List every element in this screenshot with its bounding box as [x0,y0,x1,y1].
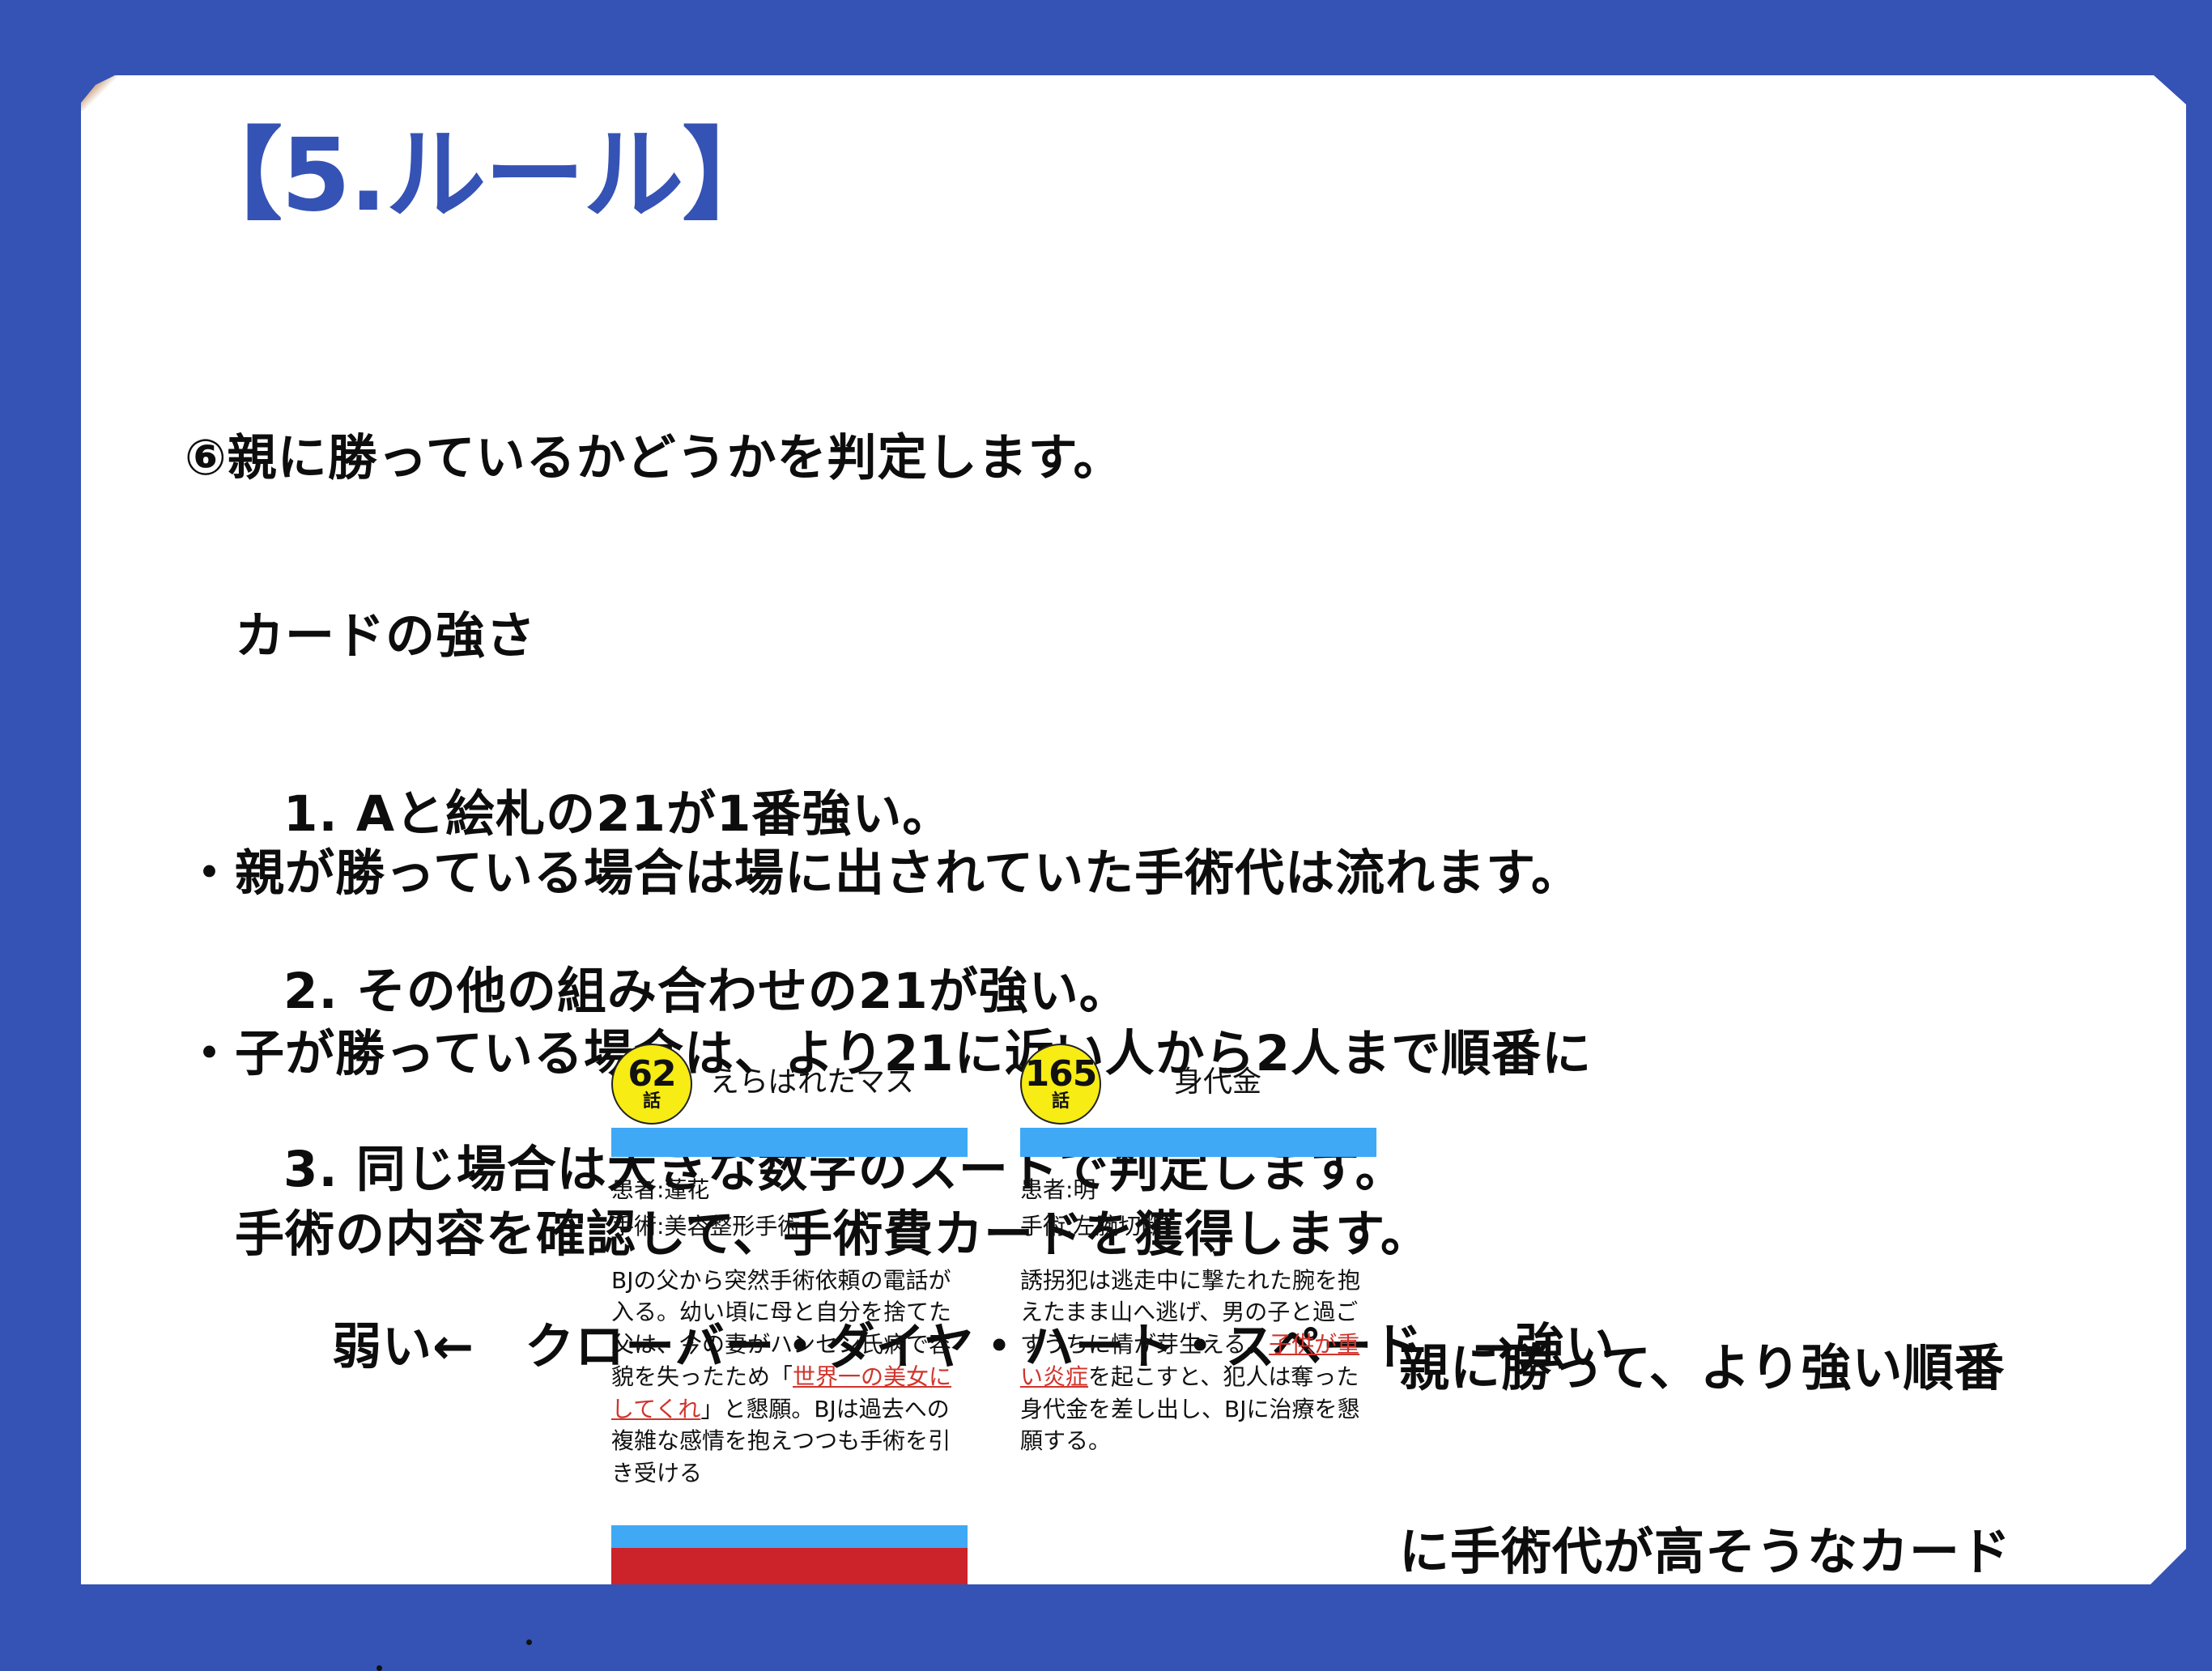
rule-line: カードの強さ [185,606,2087,665]
card-meta: 患者:明 手術:左腕切断 [1020,1171,1376,1245]
page-title: 【5.ルール】 [182,125,781,226]
scan-speck [376,1665,382,1671]
rule-line: ⑥親に勝っているかどうかを判定します。 [185,428,2087,487]
side-note-line: 親に勝って、より強い順番 [1399,1337,2186,1399]
side-note-line: に手術代が高そうなカード [1399,1521,2186,1583]
side-note: 親に勝って、より強い順番 に手術代が高そうなカード を選びます。 [1399,1215,2186,1584]
episode-number: 165 [1025,1057,1097,1092]
patient-label: 患者:明 [1020,1171,1376,1208]
episode-number: 62 [627,1057,675,1092]
episode-badge: 165 話 [1020,1044,1101,1125]
card-footer-bands [611,1525,968,1584]
card-title: 身代金 [1174,1058,1261,1100]
corner-tint-decoration [81,75,117,111]
card-footer-red-band [611,1548,968,1584]
patient-label: 患者:蓮花 [611,1171,968,1208]
bullet-line: ・親が勝っている場合は場に出されていた手術代は流れます。 [185,844,2087,904]
episode-unit: 話 [643,1093,661,1111]
card-header: 62 話 えらばれたマス [611,1044,968,1123]
episode-badge: 62 話 [611,1044,692,1125]
episode-unit: 話 [1052,1093,1070,1111]
surgery-label: 手術:左腕切断 [1020,1208,1376,1244]
card-top-band [1020,1128,1376,1157]
episode-card[interactable]: 62 話 えらばれたマス 患者:蓮花 手術:美容整形手術 BJの父から突然手術依… [611,1044,968,1584]
card-blurb: 誘拐犯は逃走中に撃たれた腕を抱えたまま山へ逃げ、男の子と過ごすうちに情が芽生える… [1020,1265,1376,1458]
card-header: 165 話 身代金 [1020,1044,1376,1123]
episode-card[interactable]: 165 話 身代金 患者:明 手術:左腕切断 誘拐犯は逃走中に撃たれた腕を抱えた… [1020,1044,1376,1584]
card-meta: 患者:蓮花 手術:美容整形手術 [611,1171,968,1245]
card-footer-blue-band [611,1525,968,1548]
scan-speck [526,1639,532,1645]
card-blurb: BJの父から突然手術依頼の電話が入る。幼い頃に母と自分を捨てた父は、今の妻がハン… [611,1265,968,1490]
card-top-band [611,1128,968,1157]
slide-sheet: 【5.ルール】 ⑥親に勝っているかどうかを判定します。 カードの強さ 1. Aと… [81,75,2186,1584]
card-title: えらばれたマス [710,1058,914,1100]
surgery-label: 手術:美容整形手術 [611,1208,968,1244]
